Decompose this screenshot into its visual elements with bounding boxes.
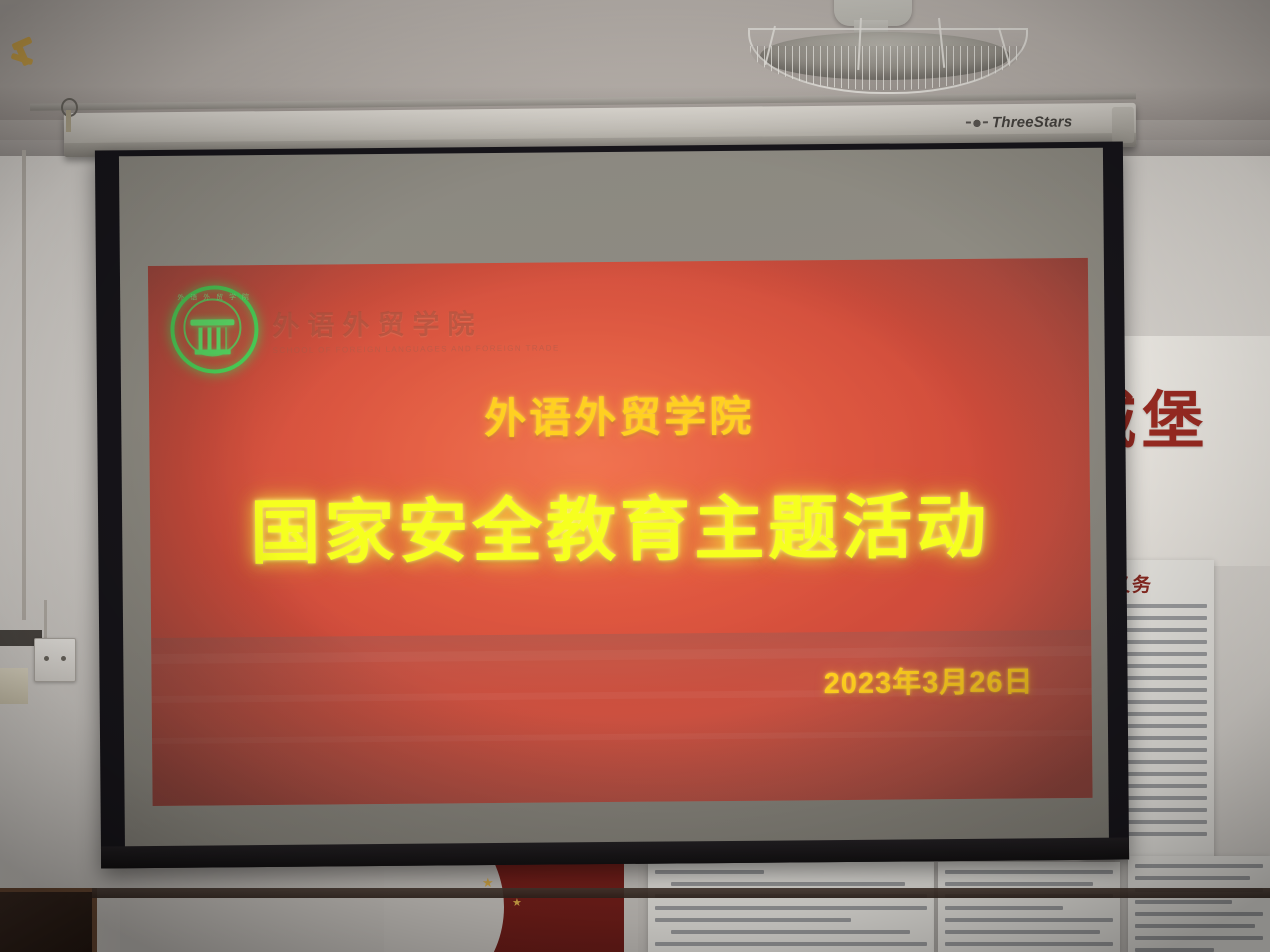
fan-cage-bars (750, 46, 1022, 90)
flag-right-edge (624, 862, 638, 952)
slide-edge-falloff (148, 258, 1093, 806)
projection-screen[interactable]: 外 语 外 贸 学 院 外语外贸学院 SCHOOL OF FOREIGN LAN… (95, 142, 1129, 869)
china-flag-poster: ★ ★ (384, 862, 638, 952)
wall-outlet[interactable] (34, 638, 76, 682)
brand-logo-icon (969, 118, 985, 128)
hammer-and-sickle-icon (10, 36, 36, 70)
ceiling-fan (742, 0, 1034, 104)
poster-bottom-right (938, 862, 1120, 952)
poster-body-text (1135, 864, 1263, 952)
poster-bottom-center (648, 862, 934, 952)
brand-name-text: ThreeStars (992, 113, 1073, 131)
wall-conduit (22, 150, 26, 620)
case-endcap (1112, 107, 1134, 143)
projected-slide: 外 语 外 贸 学 院 外语外贸学院 SCHOOL OF FOREIGN LAN… (148, 258, 1093, 806)
poster-far-right-bottom (1128, 856, 1270, 952)
skirting-board (92, 888, 1270, 898)
screen-brand-label: ThreeStars (969, 113, 1073, 131)
flag-star-icon: ★ (512, 898, 522, 909)
screen-hanger-stem (66, 110, 71, 132)
poster-body-text (945, 870, 1113, 952)
classroom-scene: ThreeStars 城堡 的义务 (0, 0, 1270, 952)
wall-board-left (0, 888, 97, 952)
poster-body-text (655, 870, 927, 952)
wall-junction-box (0, 668, 28, 704)
